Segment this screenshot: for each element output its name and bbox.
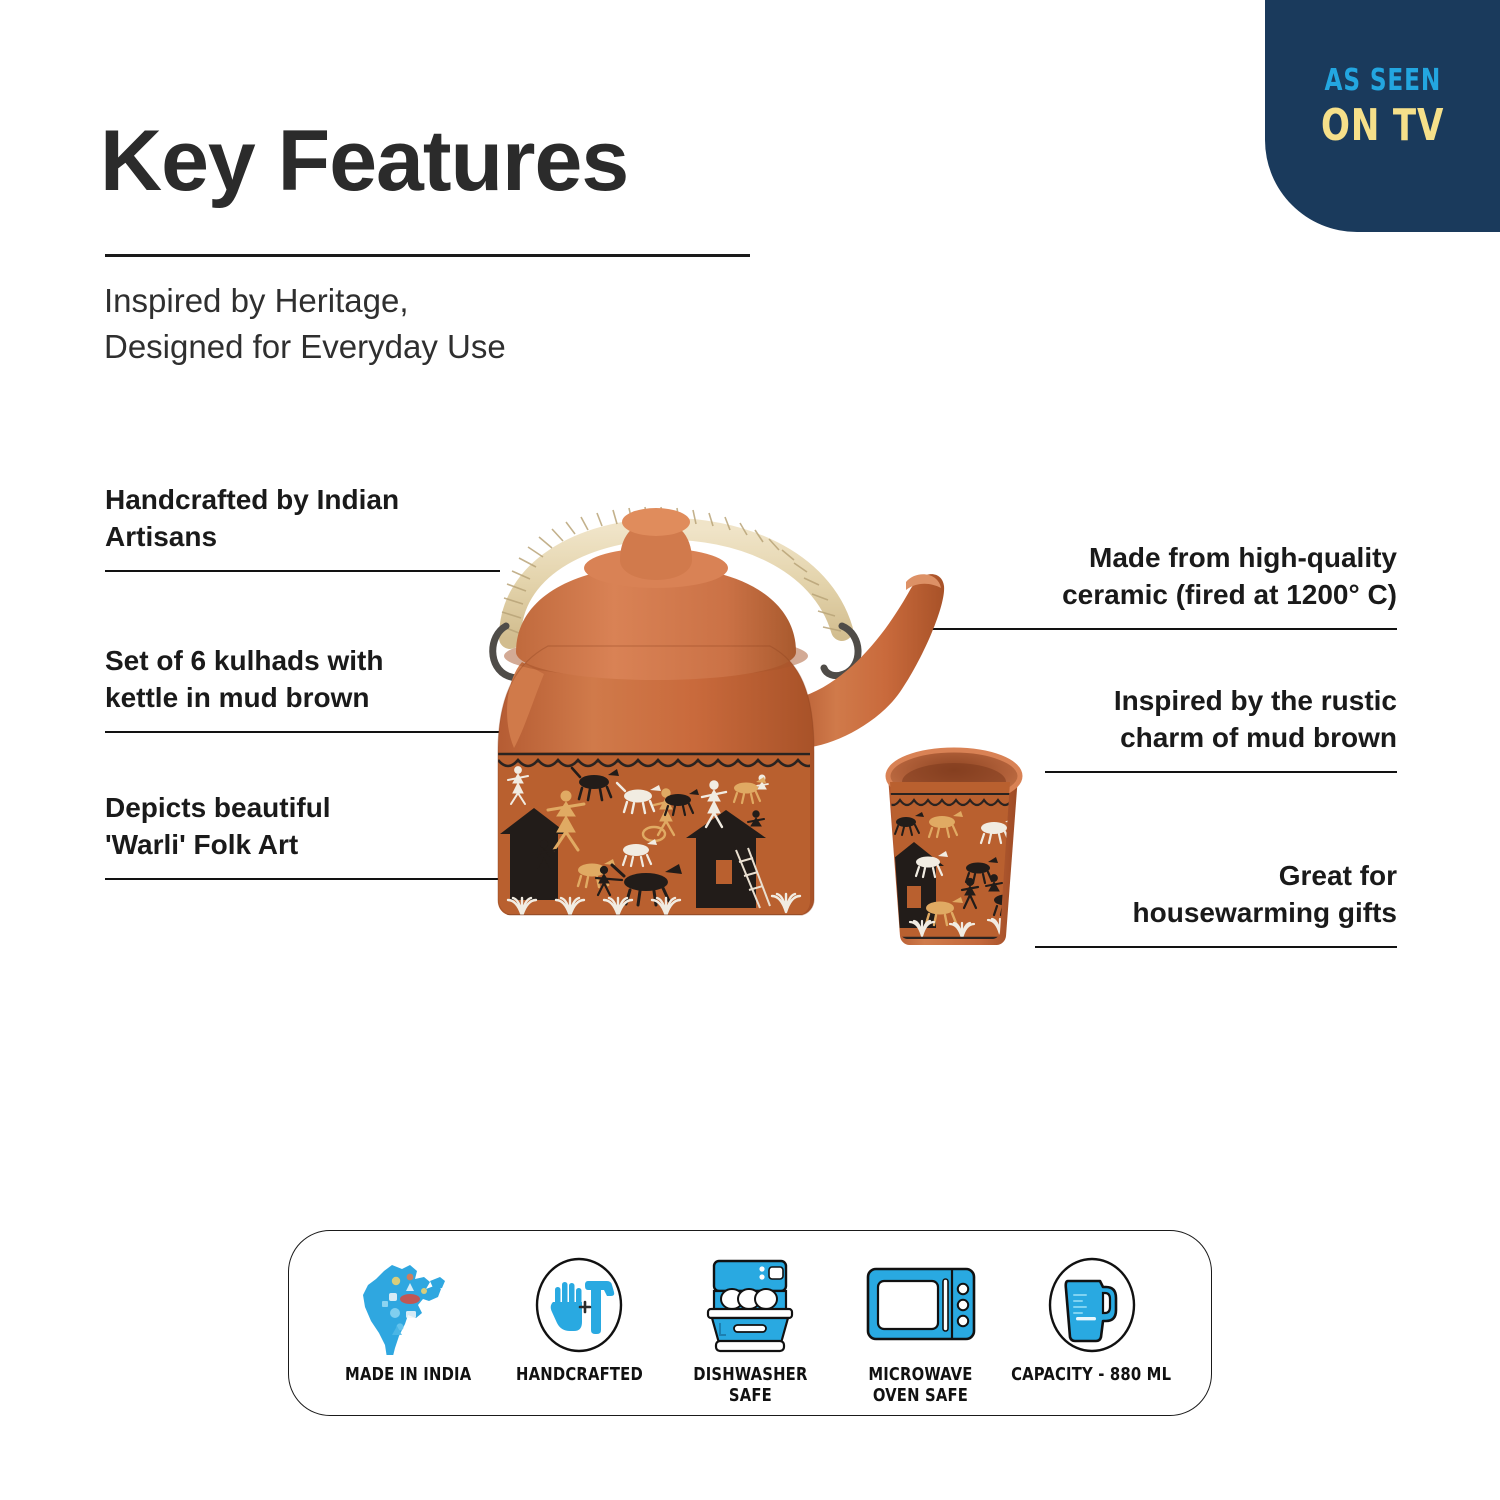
badge-handcrafted-label: HANDCRAFTED xyxy=(516,1365,643,1386)
feature-left-3: Depicts beautiful 'Warli' Folk Art xyxy=(105,790,505,880)
badge-handcrafted: HANDCRAFTED xyxy=(494,1253,665,1386)
microwave-icon xyxy=(864,1253,978,1357)
product-image xyxy=(470,430,1110,990)
kettle-lid xyxy=(504,508,808,680)
warli-art-band-kettle xyxy=(490,746,830,921)
page-title: Key Features xyxy=(100,118,628,204)
badge-microwave-oven-safe-label: MICROWAVE OVEN SAFE xyxy=(869,1365,973,1406)
page-subtitle: Inspired by Heritage, Designed for Every… xyxy=(104,278,824,369)
feature-left-2: Set of 6 kulhads with kettle in mud brow… xyxy=(105,643,505,733)
feature-left-3-label: Depicts beautiful 'Warli' Folk Art xyxy=(105,790,505,864)
measuring-jug-icon xyxy=(1042,1253,1142,1357)
kulhad-cup xyxy=(880,750,1032,952)
infographic-page: AS SEEN ON TV Key Features Inspired by H… xyxy=(0,0,1500,1500)
feature-badge-strip: MADE IN INDIA xyxy=(288,1230,1212,1416)
on-tv-label: ON TV xyxy=(1321,103,1444,149)
feature-left-3-rule xyxy=(105,878,500,880)
badge-capacity-label: CAPACITY - 880 ML xyxy=(1012,1365,1172,1386)
dishwasher-icon xyxy=(696,1253,804,1357)
hand-hammer-icon xyxy=(529,1253,629,1357)
feature-left-2-label: Set of 6 kulhads with kettle in mud brow… xyxy=(105,643,505,717)
feature-left-1-label: Handcrafted by Indian Artisans xyxy=(105,482,505,556)
badge-made-in-india-label: MADE IN INDIA xyxy=(345,1365,471,1386)
badge-dishwasher-safe-label: DISHWASHER SAFE xyxy=(670,1365,831,1406)
feature-left-2-rule xyxy=(105,731,500,733)
badge-microwave-oven-safe: MICROWAVE OVEN SAFE xyxy=(835,1253,1006,1406)
feature-left-1: Handcrafted by Indian Artisans xyxy=(105,482,505,572)
badge-made-in-india: MADE IN INDIA xyxy=(323,1253,494,1386)
badge-capacity: CAPACITY - 880 ML xyxy=(1006,1253,1177,1386)
india-map-icon xyxy=(362,1253,454,1357)
badge-dishwasher-safe: DISHWASHER SAFE xyxy=(665,1253,836,1406)
as-seen-on-tv-badge: AS SEEN ON TV xyxy=(1265,0,1500,232)
as-seen-label: AS SEEN xyxy=(1324,65,1441,97)
feature-left-1-rule xyxy=(105,570,500,572)
title-divider xyxy=(105,254,750,257)
